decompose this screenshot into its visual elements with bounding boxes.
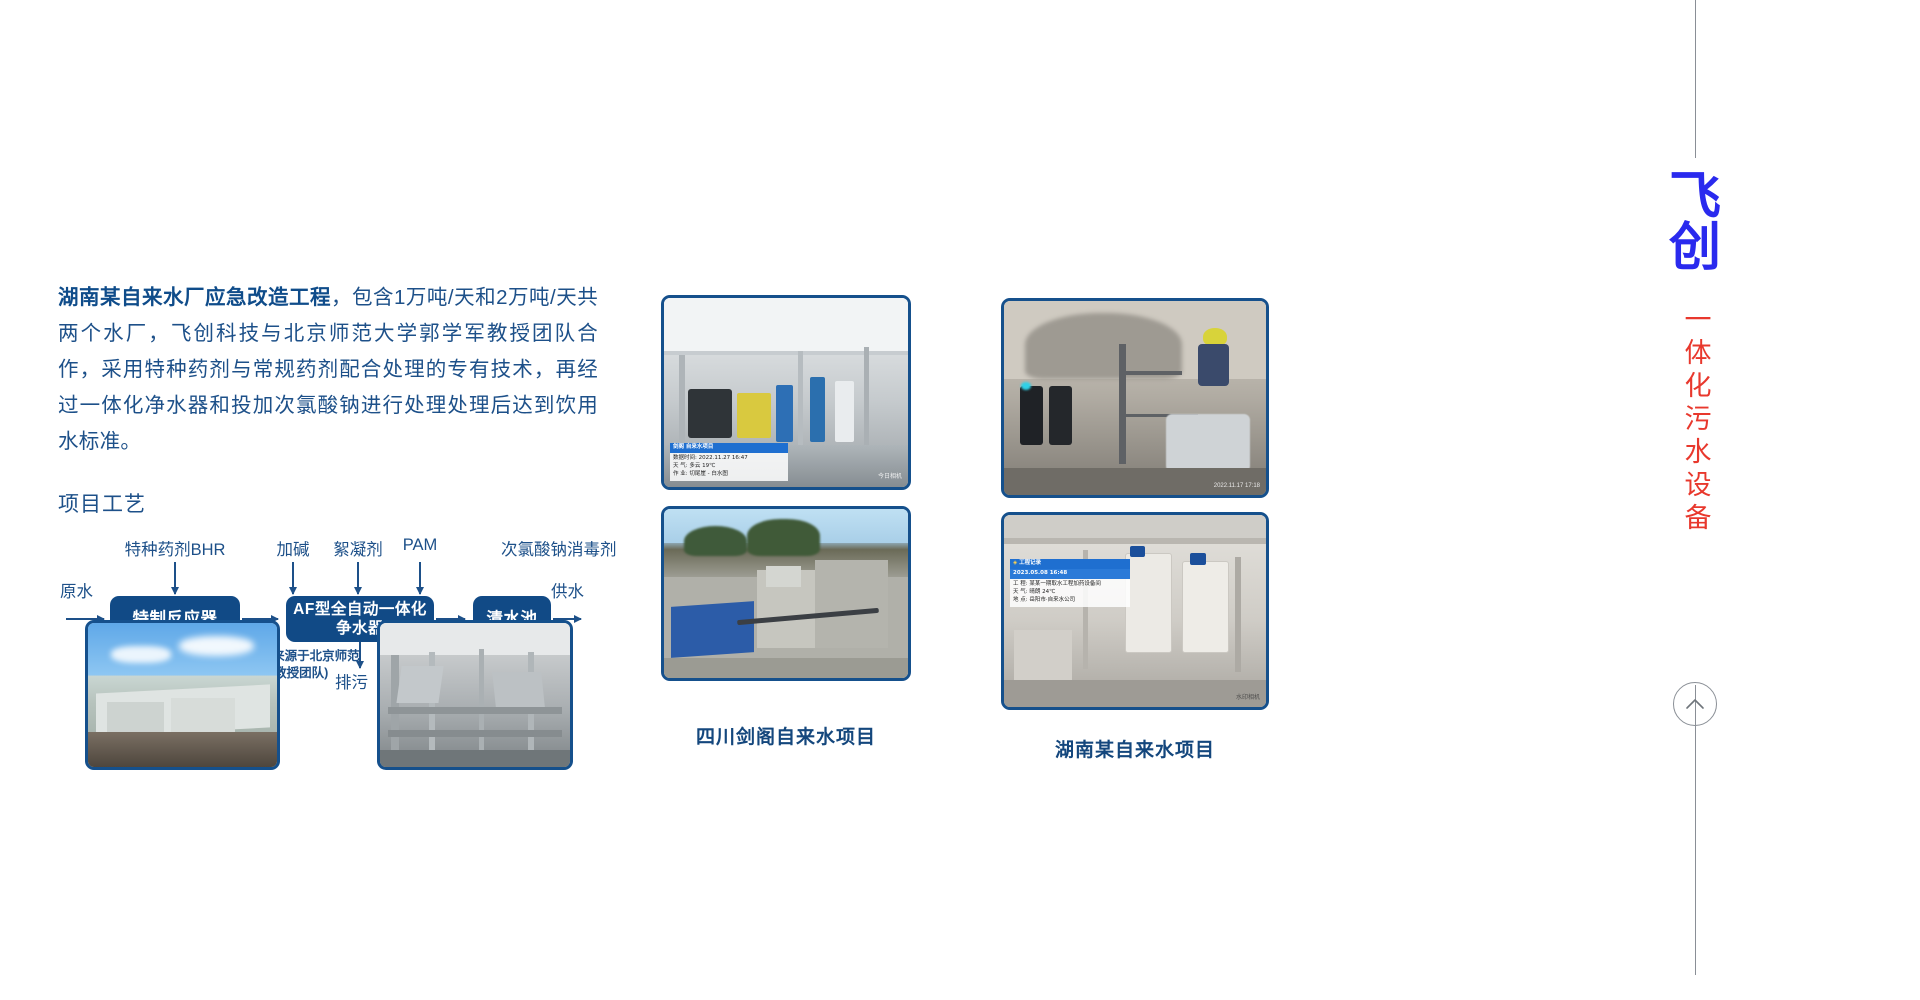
dose-arrow-pam [419, 562, 421, 594]
photo-stamp-title-hunan-text: 工程记录 [1019, 560, 1041, 566]
photo-watermark-jiange: 今日相机 [878, 471, 902, 480]
brand-logo-line2: 创 [1669, 223, 1721, 274]
dose-label-pam: PAM [403, 536, 438, 555]
photo-stamp-title: 剑阁 自来水项目 [670, 443, 788, 453]
dose-arrow-alkali [292, 562, 294, 594]
photo-stamp-time-hunan: 2023.05.08 16:48 [1010, 569, 1130, 579]
rail-divider-top [1695, 0, 1696, 158]
dose-label-flocculant: 絮凝剂 [333, 536, 383, 560]
photo-hunan-dosing-room: ◈ 工程记录 2023.05.08 16:48 工 程: 某某一期取水工程加药设… [1001, 512, 1269, 710]
photo-outdoor-structure [85, 620, 280, 770]
rail-vertical-tagline: 一体化污水设备 [1682, 305, 1709, 536]
photo-hunan-pump-room: 2022.11.17 17:18 [1001, 298, 1269, 498]
process-section-title: 项目工艺 [58, 488, 598, 518]
dose-arrow-bhr [174, 562, 176, 594]
flow-inlet-label: 原水 [60, 578, 93, 602]
slide-page: 湖南某自来水厂应急改造工程，包含1万吨/天和2万吨/天共两个水厂，飞创科技与北京… [0, 0, 1920, 1000]
dose-arrow-flocculant [357, 562, 359, 594]
photo-jiange-site-interior: 剑阁 自来水项目 数据时间: 2022.11.27 16:47 天 气: 多云 … [661, 295, 911, 490]
right-rail: 飞 创 一体化污水设备 [1640, 0, 1750, 1000]
project-description: 湖南某自来水厂应急改造工程，包含1万吨/天和2万吨/天共两个水厂，飞创科技与北京… [58, 280, 598, 460]
chevron-up-icon [1685, 697, 1705, 711]
project-description-body: ，包含1万吨/天和2万吨/天共两个水厂，飞创科技与北京师范大学郭学军教授团队合作… [58, 286, 598, 453]
dose-label-naclo: 次氯酸钠消毒剂 [501, 536, 617, 560]
photo-stamp-lines-hunan: 工 程: 某某一期取水工程加药设备间 天 气: 晴朗 24℃ 地 点: 岳阳市·… [1010, 579, 1130, 607]
caption-hunan-project: 湖南某自来水项目 [1055, 735, 1215, 762]
dose-label-alkali: 加碱 [277, 536, 310, 560]
photo-stamp-title-hunan: ◈ 工程记录 [1010, 559, 1130, 569]
photo-watermark-hunan: 水印相机 [1236, 692, 1260, 701]
dose-label-bhr: 特种药剂BHR [125, 536, 226, 560]
photo-stamp-jiange: 剑阁 自来水项目 数据时间: 2022.11.27 16:47 天 气: 多云 … [670, 443, 788, 481]
rail-divider-bottom [1695, 685, 1696, 975]
brand-logo-line1: 飞 [1669, 172, 1721, 223]
photo-timestamp-hunan-top: 2022.11.17 17:18 [1214, 483, 1260, 489]
project-description-lead: 湖南某自来水厂应急改造工程 [58, 286, 331, 309]
flow-outlet-label: 供水 [551, 578, 584, 602]
brand-logo: 飞 创 [1669, 172, 1721, 274]
photo-stamp-hunan: ◈ 工程记录 2023.05.08 16:48 工 程: 某某一期取水工程加药设… [1010, 559, 1130, 607]
scroll-to-top-button[interactable] [1673, 682, 1717, 726]
photo-stamp-lines: 数据时间: 2022.11.27 16:47 天 气: 多云 19℃ 作 业: … [670, 453, 788, 481]
photo-jiange-outdoor-tanks [661, 506, 911, 681]
photo-equipment-hall [377, 620, 573, 770]
caption-jiange-project: 四川剑阁自来水项目 [696, 722, 876, 749]
